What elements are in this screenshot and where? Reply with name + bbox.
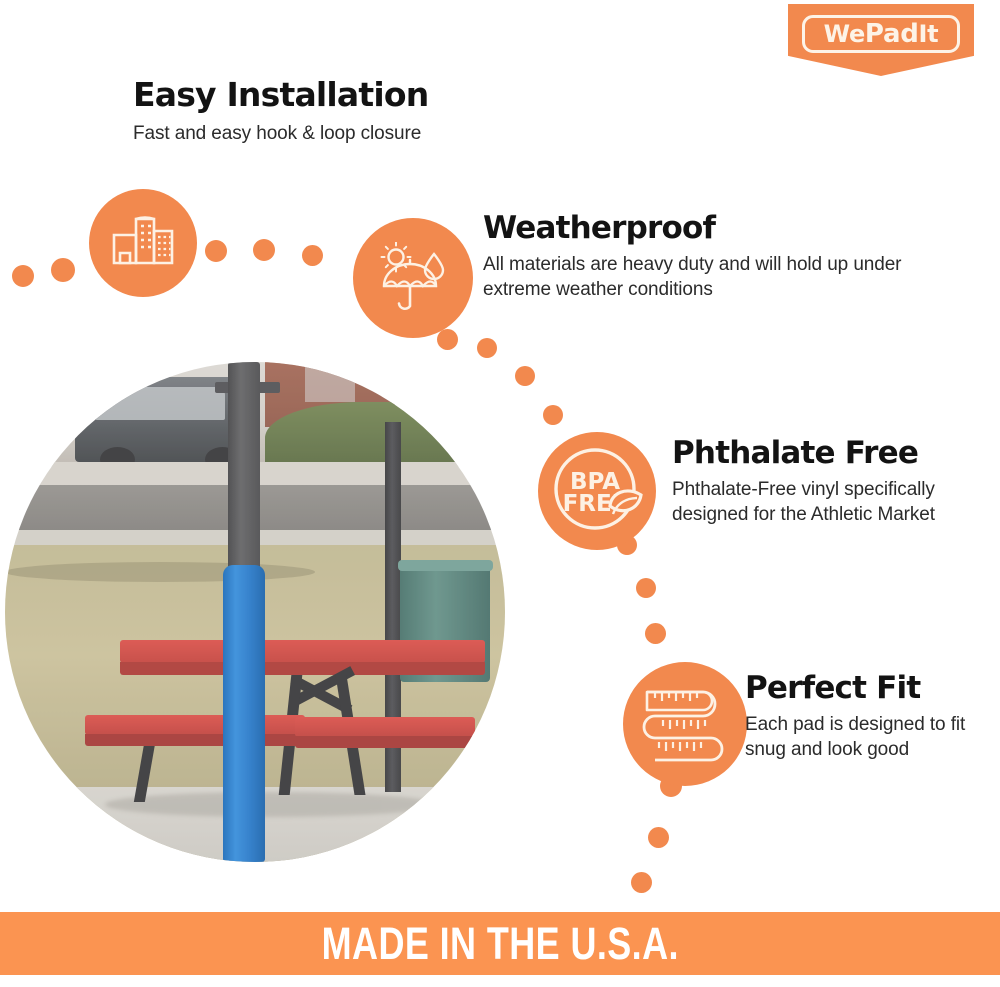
feature-title: Easy Installation [133, 78, 563, 113]
feature-description: Fast and easy hook & loop closure [133, 121, 563, 146]
feature-phthalate-free: Phthalate Free Phthalate-Free vinyl spec… [672, 437, 972, 527]
path-dot [253, 239, 275, 261]
feature-description: All materials are heavy duty and will ho… [483, 252, 903, 303]
infographic-canvas: WePadIt [0, 0, 1000, 987]
path-dot [648, 827, 669, 848]
path-dot [645, 623, 666, 644]
path-dot [631, 872, 652, 893]
path-dot [51, 258, 75, 282]
building-icon [89, 189, 197, 297]
feature-description: Phthalate-Free vinyl specifically design… [672, 477, 972, 528]
logo-word-pad: Pad [865, 19, 919, 49]
umbrella-rain-sun-icon [353, 218, 473, 338]
brand-logo: WePadIt [788, 4, 974, 76]
feature-title: Phthalate Free [672, 437, 972, 470]
measuring-tape-icon [623, 662, 747, 786]
feature-easy-installation: Easy Installation Fast and easy hook & l… [133, 78, 563, 146]
logo-word-we: We [824, 20, 865, 48]
feature-title: Perfect Fit [745, 672, 985, 705]
product-photo [5, 362, 505, 862]
product-photo-scene [5, 362, 505, 862]
feature-perfect-fit: Perfect Fit Each pad is designed to fit … [745, 672, 985, 762]
feature-weatherproof: Weatherproof All materials are heavy dut… [483, 212, 903, 302]
path-dot [302, 245, 323, 266]
path-dot [205, 240, 227, 262]
logo-word-it: It [919, 20, 939, 48]
logo-wordmark: WePadIt [824, 21, 939, 47]
logo-frame: WePadIt [802, 15, 960, 53]
feature-title: Weatherproof [483, 212, 903, 245]
path-dot [437, 329, 458, 350]
path-dot [12, 265, 34, 287]
path-dot [543, 405, 563, 425]
path-dot [636, 578, 656, 598]
made-in-usa-text: MADE IN THE U.S.A. [321, 918, 678, 970]
bpa-free-leaf-icon: BPA FREE [538, 432, 656, 550]
path-dot [515, 366, 535, 386]
path-dot [477, 338, 497, 358]
feature-description: Each pad is designed to fit snug and loo… [745, 712, 985, 763]
made-in-usa-banner: MADE IN THE U.S.A. [0, 912, 1000, 975]
